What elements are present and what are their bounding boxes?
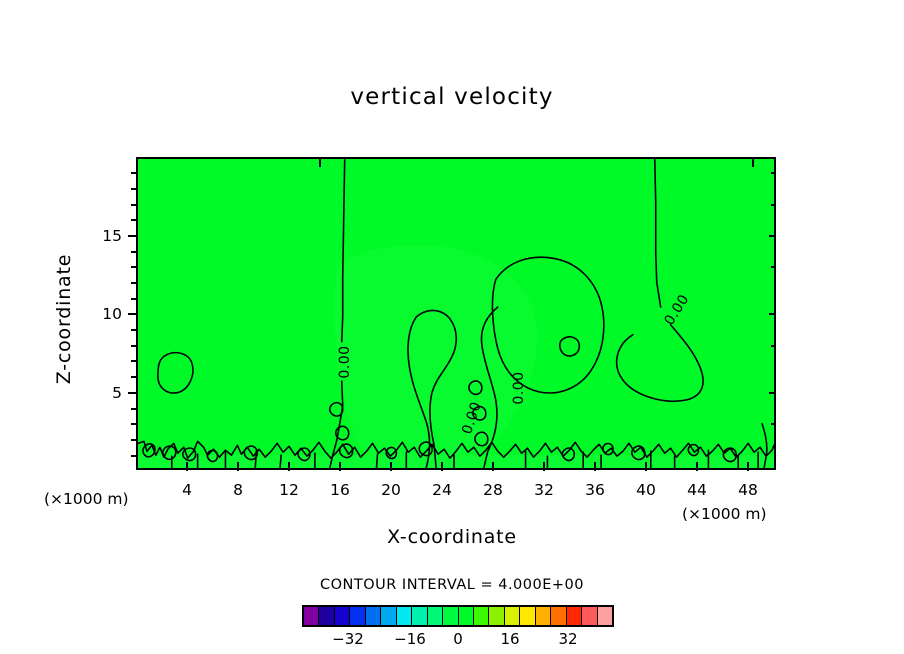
x-axis-tick-label: 40 xyxy=(636,481,656,499)
x-axis-tick xyxy=(237,462,239,471)
y-axis-title: Z-coordinate xyxy=(53,219,75,419)
colorbar-tick-label: 0 xyxy=(453,630,463,648)
y-axis-tick-minor-right xyxy=(771,266,776,268)
x-axis-tick-label: 24 xyxy=(432,481,452,499)
colorbar-swatch xyxy=(335,607,350,625)
colorbar-swatch xyxy=(412,607,427,625)
x-tick-text: 40 xyxy=(636,481,656,499)
x-tick-text: 48 xyxy=(738,481,758,499)
colorbar-tick-text: −16 xyxy=(394,630,426,648)
x-axis-unit-left: (×1000 m) xyxy=(44,490,129,508)
x-axis-tick-label: 32 xyxy=(534,481,554,499)
y-axis-tick-minor-right xyxy=(769,392,776,394)
x-axis-title: X-coordinate xyxy=(0,526,904,548)
colorbar-swatch xyxy=(489,607,504,625)
y-axis-tick-label: 15 xyxy=(92,227,122,245)
colorbar-swatch xyxy=(366,607,381,625)
x-axis-tick-label: 36 xyxy=(585,481,605,499)
colorbar-caption: CONTOUR INTERVAL = 4.000E+00 xyxy=(0,577,904,593)
x-axis-tick xyxy=(390,462,392,471)
colorbar-tick-text: 16 xyxy=(500,630,519,648)
x-axis-tick xyxy=(186,462,188,471)
y-axis-tick-minor xyxy=(131,455,137,457)
y-axis-tick-minor xyxy=(131,219,137,221)
colorbar-swatch xyxy=(505,607,520,625)
y-axis-tick-minor xyxy=(131,266,137,268)
y-axis-tick-minor xyxy=(131,376,137,378)
colorbar-swatch xyxy=(551,607,566,625)
x-tick-text: 44 xyxy=(687,481,707,499)
colorbar-swatch xyxy=(350,607,365,625)
page-title: vertical velocity xyxy=(0,84,904,110)
colorbar-swatch xyxy=(459,607,474,625)
x-axis-tick xyxy=(492,462,494,471)
x-axis-tick-label: 20 xyxy=(381,481,401,499)
colorbar-swatch xyxy=(567,607,582,625)
x-axis-unit-right: (×1000 m) xyxy=(682,505,767,523)
colorbar-swatch xyxy=(319,607,334,625)
y-axis-tick-minor xyxy=(131,282,137,284)
x-axis-tick-label: 8 xyxy=(233,481,243,499)
colorbar-swatch xyxy=(428,607,443,625)
y-tick-text: 10 xyxy=(102,305,122,323)
x-axis-tick xyxy=(543,462,545,471)
colorbar-tick-text: 32 xyxy=(558,630,577,648)
y-axis-tick-minor xyxy=(131,172,137,174)
x-axis-tick xyxy=(696,462,698,471)
y-axis-tick-minor-right xyxy=(769,235,776,237)
y-tick-text: 5 xyxy=(112,384,122,402)
colorbar-tick-text: −32 xyxy=(332,630,364,648)
colorbar-tick-labels: −32 −16 0 16 32 xyxy=(302,630,614,650)
y-axis-tick-minor xyxy=(131,439,137,441)
colorbar-swatch xyxy=(520,607,535,625)
x-tick-text: 32 xyxy=(534,481,554,499)
x-tick-text: 24 xyxy=(432,481,452,499)
colorbar-swatch xyxy=(598,607,612,625)
x-axis-tick xyxy=(594,462,596,471)
x-axis-tick xyxy=(288,462,290,471)
colorbar-tick-text: 0 xyxy=(453,630,463,648)
x-axis-tick-top xyxy=(319,157,321,167)
x-axis-tick-label: 16 xyxy=(330,481,350,499)
y-axis-tick-minor xyxy=(131,251,137,253)
x-axis-tick xyxy=(747,462,749,471)
colorbar-swatch xyxy=(304,607,319,625)
y-axis-tick-minor-right xyxy=(771,204,776,206)
colorbar-swatch xyxy=(381,607,396,625)
colorbar-swatch xyxy=(536,607,551,625)
x-tick-text: 4 xyxy=(182,481,192,499)
colorbar-swatch xyxy=(474,607,489,625)
colorbar-tick-label: −32 xyxy=(332,630,364,648)
colorbar-tick-label: −16 xyxy=(394,630,426,648)
colorbar xyxy=(302,605,614,627)
x-axis-tick-label: 4 xyxy=(182,481,192,499)
x-tick-text: 28 xyxy=(483,481,503,499)
contour-label: 0.00 xyxy=(511,371,527,404)
x-tick-text: 12 xyxy=(279,481,299,499)
x-axis-tick xyxy=(645,462,647,471)
y-axis-tick-label: 5 xyxy=(92,384,122,402)
y-axis-tick-minor-right xyxy=(771,172,776,174)
x-axis-tick xyxy=(441,462,443,471)
colorbar-tick-label: 16 xyxy=(500,630,519,648)
y-axis-tick-minor xyxy=(131,360,137,362)
y-axis-tick-minor xyxy=(131,408,137,410)
colorbar-swatch xyxy=(443,607,458,625)
y-axis-tick-major xyxy=(128,235,137,237)
x-tick-text: 36 xyxy=(585,481,605,499)
contour-label-text: 0.00 xyxy=(511,371,527,404)
y-axis-tick-major xyxy=(128,313,137,315)
x-axis-tick-label: 28 xyxy=(483,481,503,499)
y-axis-tick-minor-right xyxy=(769,313,776,315)
y-axis-tick-minor xyxy=(131,423,137,425)
contour-label-text: 0.00 xyxy=(337,345,353,378)
y-axis-tick-minor xyxy=(131,188,137,190)
colorbar-swatch xyxy=(397,607,412,625)
y-axis-tick-minor xyxy=(131,204,137,206)
y-tick-text: 15 xyxy=(102,227,122,245)
x-axis-tick-label: 44 xyxy=(687,481,707,499)
x-axis-tick-top xyxy=(752,157,754,167)
colorbar-swatch xyxy=(582,607,597,625)
y-axis-tick-label: 10 xyxy=(92,305,122,323)
x-axis-tick-label: 48 xyxy=(738,481,758,499)
y-axis-tick-minor xyxy=(131,345,137,347)
figure-root: vertical velocity xyxy=(0,0,904,654)
x-tick-text: 20 xyxy=(381,481,401,499)
y-axis-tick-minor-right xyxy=(771,345,776,347)
y-axis-tick-minor-right xyxy=(771,423,776,425)
x-axis-tick xyxy=(339,462,341,471)
y-axis-tick-minor xyxy=(131,298,137,300)
y-axis-tick-major xyxy=(128,392,137,394)
y-axis-tick-minor xyxy=(131,329,137,331)
x-tick-text: 8 xyxy=(233,481,243,499)
contour-label: 0.00 xyxy=(337,345,353,378)
colorbar-tick-label: 32 xyxy=(558,630,577,648)
x-axis-tick-label: 12 xyxy=(279,481,299,499)
x-tick-text: 16 xyxy=(330,481,350,499)
